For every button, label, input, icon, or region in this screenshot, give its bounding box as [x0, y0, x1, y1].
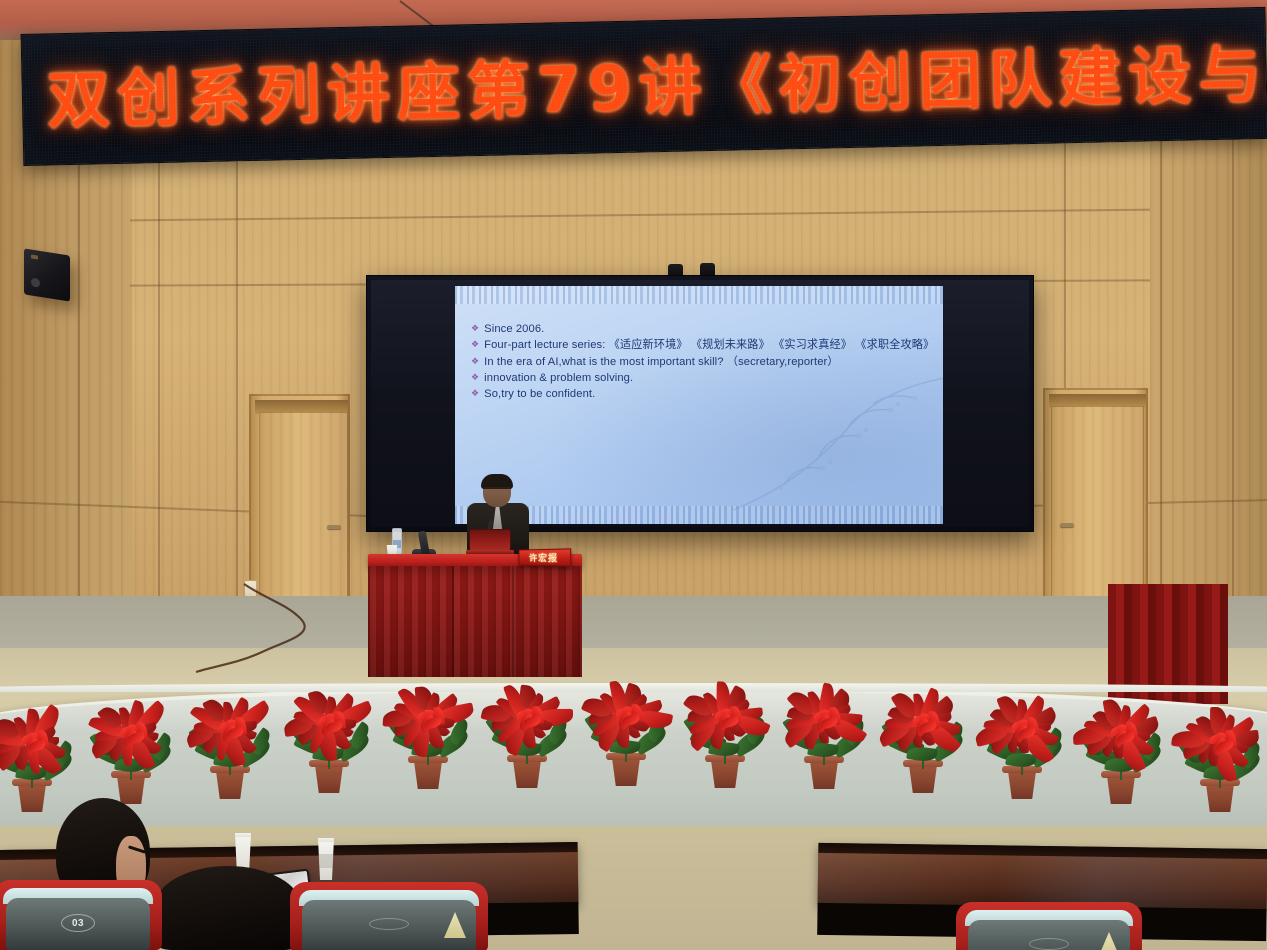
slide-bullet-item: ❖ In the era of AI,what is the most impo… — [471, 355, 933, 369]
poinsettia-plant — [279, 685, 379, 793]
seat-emblem-icon — [369, 918, 409, 930]
poinsettia-leaf-green — [906, 745, 938, 763]
wall-panel-seam — [1160, 90, 1162, 660]
slide-bullet-text: So,try to be confident. — [484, 387, 933, 401]
right-door[interactable] — [1051, 406, 1144, 614]
audience-seat-03[interactable]: 03 — [0, 880, 162, 950]
poinsettia-foliage — [477, 680, 577, 764]
speaker-nameplate-text: 许宏报 — [529, 551, 558, 565]
audience-seat[interactable] — [290, 882, 488, 950]
poinsettia-plant — [180, 691, 280, 799]
poinsettia-foliage — [180, 691, 280, 775]
poinsettia-plant — [378, 681, 478, 789]
seat-emblem-icon — [1029, 938, 1069, 950]
slide-bullet-text: In the era of AI,what is the most import… — [484, 355, 933, 369]
speaker-led-icon — [31, 254, 38, 259]
audience-desk-right — [818, 843, 1267, 911]
slide-bullet-item: ❖ Four-part lecture series: 《适应新环境》 《规划未… — [471, 338, 933, 352]
seat-number: 03 — [61, 914, 95, 932]
poinsettia-plant — [1071, 696, 1171, 804]
poinsettia-foliage — [1170, 704, 1267, 788]
poinsettia-plant — [477, 680, 577, 788]
lecture-hall-photo: 双创系列讲座第79讲《初创团队建设与人力资源管理风险管控要 — [0, 0, 1267, 950]
poinsettia-plant — [576, 678, 676, 786]
poinsettia-foliage — [81, 696, 181, 780]
slide-bullet-text: Since 2006. — [484, 322, 933, 336]
poinsettia-foliage — [873, 685, 973, 769]
poinsettia-plant — [81, 696, 181, 804]
cup-sleeve — [317, 854, 335, 868]
laptop[interactable] — [466, 529, 514, 556]
poinsettia-foliage — [774, 681, 874, 765]
audience-head-center — [154, 866, 302, 950]
slide-decorative-border-top — [455, 286, 943, 304]
bullet-diamond-icon: ❖ — [471, 387, 479, 401]
poinsettia-plant — [1170, 704, 1267, 812]
led-banner: 双创系列讲座第79讲《初创团队建设与人力资源管理风险管控要 — [21, 7, 1267, 166]
poinsettia-foliage — [279, 685, 379, 769]
slide-bullet-text: Four-part lecture series: 《适应新环境》 《规划未来路… — [484, 338, 933, 352]
poinsettia-plant — [0, 704, 82, 812]
bullet-diamond-icon: ❖ — [471, 371, 479, 385]
poinsettia-foliage — [576, 678, 676, 762]
floor-cable — [0, 560, 420, 680]
poinsettia-foliage — [972, 691, 1072, 775]
bullet-diamond-icon: ❖ — [471, 355, 479, 369]
slide-bullet-item: ❖ Since 2006. — [471, 322, 933, 336]
wall-speaker-icon — [24, 248, 70, 301]
poinsettia-foliage — [1071, 696, 1171, 780]
slide-bullet-list: ❖ Since 2006. ❖ Four-part lecture series… — [471, 322, 933, 404]
slide-bullet-text: innovation & problem solving. — [484, 371, 933, 385]
slide-bullet-item: ❖ So,try to be confident. — [471, 387, 933, 401]
poinsettia-plant — [675, 680, 775, 788]
presenter-glasses-icon — [484, 487, 510, 494]
table-skirt-fold — [452, 566, 454, 677]
bullet-diamond-icon: ❖ — [471, 322, 479, 336]
laptop-lid — [469, 529, 511, 551]
poinsettia-plant — [873, 685, 973, 793]
left-door-handle[interactable] — [327, 525, 341, 529]
table-skirt-fold — [512, 566, 514, 677]
poinsettia-foliage — [378, 681, 478, 765]
slide-bullet-item: ❖ innovation & problem solving. — [471, 371, 933, 385]
bullet-diamond-icon: ❖ — [471, 338, 479, 352]
stage-table-skirt — [368, 566, 582, 677]
poinsettia-plant — [972, 691, 1072, 799]
right-door-frame — [1043, 388, 1148, 616]
audience-seat[interactable] — [956, 902, 1142, 950]
poinsettia-foliage — [675, 680, 775, 764]
poinsettia-plant — [774, 681, 874, 789]
speaker-nameplate: 许宏报 — [519, 548, 572, 566]
poinsettia-foliage — [0, 704, 82, 788]
right-door-handle[interactable] — [1060, 523, 1074, 527]
